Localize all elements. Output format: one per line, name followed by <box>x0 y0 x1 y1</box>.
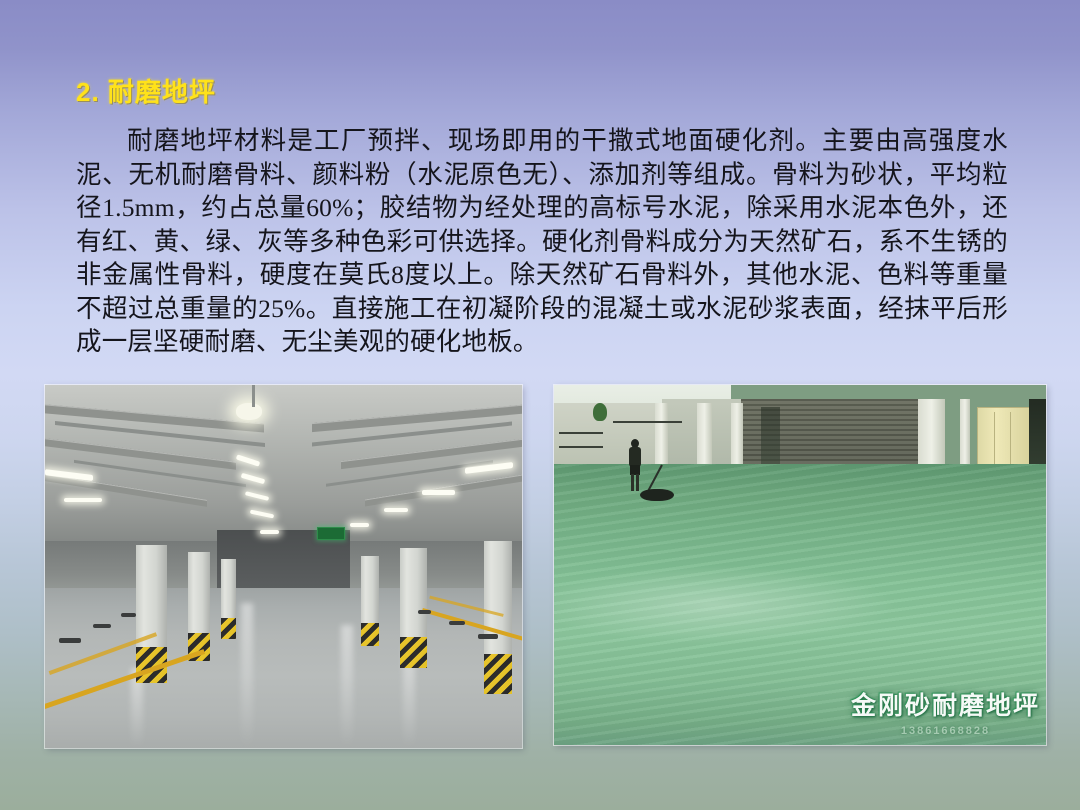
garage-column <box>221 559 235 639</box>
light-hanger <box>252 385 255 407</box>
pendant-light <box>236 403 262 420</box>
worker-torso <box>629 447 641 467</box>
floor-reflection <box>241 603 253 748</box>
plant-shrub <box>593 403 607 421</box>
photo-left-scene <box>45 385 522 748</box>
garage-floor <box>45 588 522 748</box>
body-paragraph: 耐磨地坪材料是工厂预拌、现场即用的干撒式地面硬化剂。主要由高强度水泥、无机耐磨骨… <box>76 124 1008 359</box>
power-trowel-machine <box>640 489 674 501</box>
wheel-stop <box>93 624 111 628</box>
worker-leg <box>636 474 639 491</box>
fluorescent-light <box>64 498 102 503</box>
worker-leg <box>631 474 634 491</box>
screed-rail <box>613 421 682 423</box>
scaffold-bar <box>559 446 603 448</box>
wheel-stop <box>449 621 465 625</box>
slide-canvas: 2. 耐磨地坪 耐磨地坪材料是工厂预拌、现场即用的干撒式地面硬化剂。主要由高强度… <box>0 0 1080 810</box>
fluorescent-light <box>350 523 369 527</box>
wheel-stop <box>418 610 431 614</box>
garage-column <box>361 556 379 647</box>
fluorescent-light <box>422 490 455 495</box>
floor-sheen <box>554 565 898 644</box>
garage-column <box>136 545 167 683</box>
garage-column <box>188 552 210 661</box>
garage-column <box>484 541 513 693</box>
wheel-stop <box>59 638 81 643</box>
scaffold-bar <box>559 432 603 434</box>
wheel-stop <box>478 634 498 639</box>
fluorescent-light <box>260 530 279 534</box>
photo-right-scene: 金刚砂耐磨地坪 13861668828 <box>554 385 1046 745</box>
floor-reflection <box>341 625 353 748</box>
photo-right-green-floor: 金刚砂耐磨地坪 13861668828 <box>554 385 1046 745</box>
wheel-stop <box>121 613 136 617</box>
worker-figure <box>625 439 645 493</box>
page-title: 2. 耐磨地坪 <box>76 72 216 109</box>
fluorescent-light <box>384 508 408 512</box>
photo-left-parking-garage <box>45 385 522 748</box>
exit-sign <box>317 527 345 540</box>
